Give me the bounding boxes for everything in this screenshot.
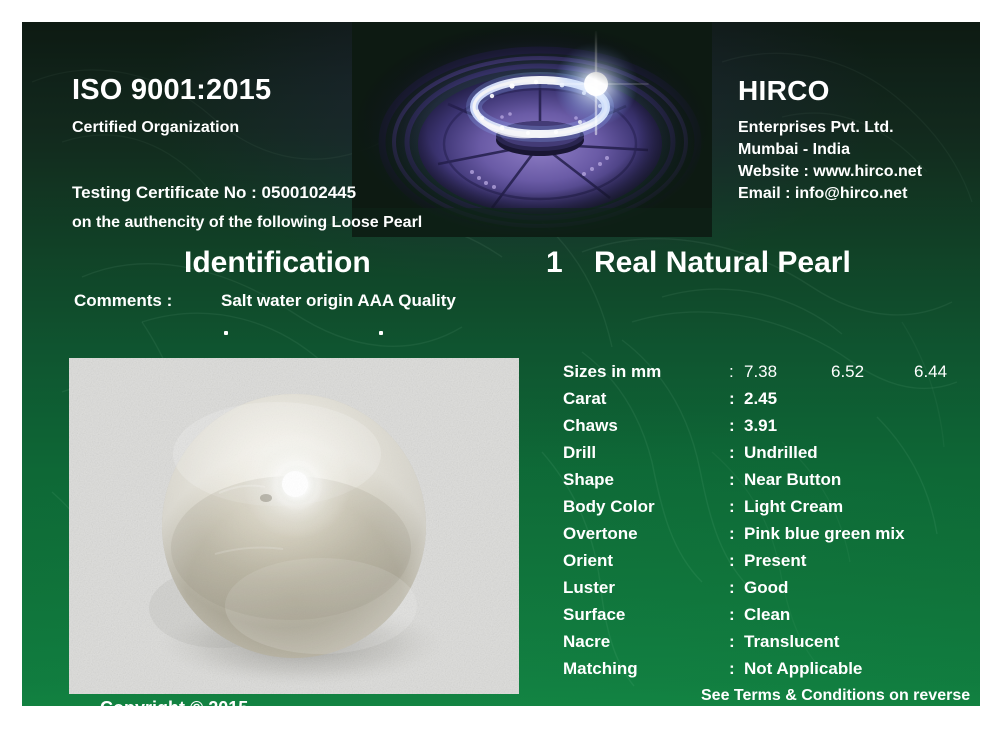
spec-value-size-length: 7.38 (744, 362, 777, 382)
pearl-specifications-table: Sizes in mm : 7.38 6.52 6.44 Carat : 2.4… (563, 362, 980, 686)
comments-marker-dot-left (224, 331, 228, 335)
spec-label: Chaws (563, 416, 618, 436)
spec-colon: : (729, 605, 735, 625)
company-legal-line: Enterprises Pvt. Ltd. (738, 117, 922, 139)
comments-marker-dot-right (379, 331, 383, 335)
spec-label: Shape (563, 470, 614, 490)
spec-value: Clean (744, 605, 790, 625)
identification-result: Real Natural Pearl (594, 246, 851, 280)
spec-colon: : (729, 551, 735, 571)
certificate-card: ISO 9001:2015 Certified Organization Tes… (22, 22, 980, 706)
spec-colon: : (729, 632, 735, 652)
spec-value: Light Cream (744, 497, 843, 517)
spec-colon: : (729, 659, 735, 679)
table-row: Sizes in mm : 7.38 6.52 6.44 (563, 362, 980, 389)
spec-label: Orient (563, 551, 613, 571)
table-row: Body Color : Light Cream (563, 497, 980, 524)
spec-colon: : (729, 389, 735, 409)
table-row: Overtone : Pink blue green mix (563, 524, 980, 551)
company-name: HIRCO (738, 75, 830, 107)
testing-certificate-number: Testing Certificate No : 0500102445 (72, 183, 356, 203)
pearl-photograph (69, 358, 519, 694)
spec-value: Present (744, 551, 806, 571)
certificate-page: ISO 9001:2015 Certified Organization Tes… (0, 0, 1002, 744)
copyright-notice: Copyright © 2015. (100, 698, 253, 706)
iso-standard-title: ISO 9001:2015 (72, 74, 271, 107)
spec-colon: : (729, 578, 735, 598)
spec-colon: : (729, 470, 735, 490)
spec-label: Nacre (563, 632, 610, 652)
table-row: Chaws : 3.91 (563, 416, 980, 443)
spec-value-size-width: 6.52 (831, 362, 864, 382)
table-row: Matching : Not Applicable (563, 659, 980, 686)
comments-label: Comments : (74, 291, 172, 311)
spec-colon: : (729, 362, 734, 382)
spec-label: Overtone (563, 524, 638, 544)
spec-value: 3.91 (744, 416, 777, 436)
spec-label: Body Color (563, 497, 655, 517)
spec-label: Surface (563, 605, 625, 625)
spec-label: Luster (563, 578, 615, 598)
spec-colon: : (729, 497, 735, 517)
spec-value: Pink blue green mix (744, 524, 905, 544)
table-row: Surface : Clean (563, 605, 980, 632)
company-website-line[interactable]: Website : www.hirco.net (738, 161, 922, 183)
comments-value: Salt water origin AAA Quality (221, 291, 456, 311)
table-row: Drill : Undrilled (563, 443, 980, 470)
authenticity-statement: on the authencity of the following Loose… (72, 214, 422, 232)
table-row: Nacre : Translucent (563, 632, 980, 659)
table-row: Luster : Good (563, 578, 980, 605)
iso-certified-subtitle: Certified Organization (72, 119, 239, 137)
spec-label: Carat (563, 389, 606, 409)
spec-value: 2.45 (744, 389, 777, 409)
identification-item-number: 1 (546, 246, 563, 280)
terms-and-conditions-note: See Terms & Conditions on reverse (701, 687, 970, 705)
company-city-line: Mumbai - India (738, 139, 922, 161)
spec-label: Matching (563, 659, 638, 679)
spec-value: Good (744, 578, 788, 598)
identification-label: Identification (184, 246, 371, 280)
table-row: Shape : Near Button (563, 470, 980, 497)
spec-colon: : (729, 416, 735, 436)
spec-value: Translucent (744, 632, 839, 652)
company-email-line[interactable]: Email : info@hirco.net (738, 183, 922, 205)
company-address-block: Enterprises Pvt. Ltd. Mumbai - India Web… (738, 117, 922, 205)
spec-value: Undrilled (744, 443, 818, 463)
spec-colon: : (729, 443, 735, 463)
table-row: Orient : Present (563, 551, 980, 578)
spec-colon: : (729, 524, 735, 544)
spec-value-size-height: 6.44 (914, 362, 947, 382)
table-row: Carat : 2.45 (563, 389, 980, 416)
spec-value: Not Applicable (744, 659, 862, 679)
spec-label: Sizes in mm (563, 362, 661, 382)
spec-label: Drill (563, 443, 596, 463)
glowing-pearl-disc-emblem-icon (352, 22, 712, 237)
spec-value: Near Button (744, 470, 841, 490)
